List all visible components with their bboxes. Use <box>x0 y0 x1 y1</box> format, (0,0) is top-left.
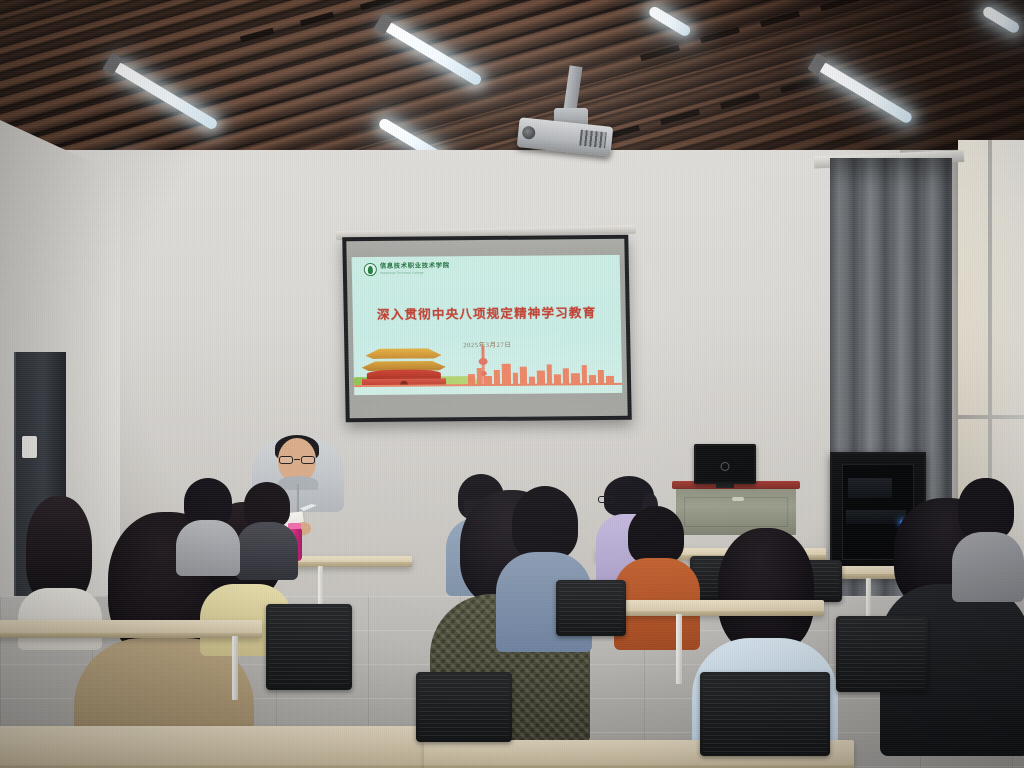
student-rust-jacket <box>614 506 700 646</box>
chair[interactable] <box>700 672 830 756</box>
student-torso <box>236 522 298 580</box>
desk-leg <box>676 614 682 684</box>
student-hair <box>512 486 578 560</box>
desk <box>0 620 262 638</box>
dell-logo-icon <box>721 462 730 471</box>
desk-leg <box>232 636 238 700</box>
slide-artwork <box>353 341 622 395</box>
student-hair <box>184 478 232 526</box>
chair[interactable] <box>556 580 626 636</box>
student-hair <box>718 528 814 652</box>
slide-title: 深入贯彻中央八项规定精神学习教育 <box>353 302 621 323</box>
desktop-monitor[interactable] <box>694 444 756 484</box>
student-dark-coat <box>236 482 298 578</box>
projector-vent <box>579 130 607 149</box>
student-torso <box>952 532 1024 602</box>
classroom-photo: 信息技术职业技术学院 Vocational Technical College … <box>0 0 1024 768</box>
projector-lens <box>522 126 536 140</box>
chair[interactable] <box>416 672 512 742</box>
student-gray-top <box>176 478 240 570</box>
eyeglasses-icon <box>279 456 315 464</box>
chair[interactable] <box>836 616 928 692</box>
presentation-slide: 信息技术职业技术学院 Vocational Technical College … <box>352 255 623 395</box>
podium-handle[interactable] <box>732 497 744 501</box>
slide-logo: 信息技术职业技术学院 Vocational Technical College <box>364 262 450 276</box>
eyeglasses-icon <box>598 496 614 503</box>
college-emblem-icon <box>364 263 377 276</box>
desk <box>0 726 460 768</box>
projection-screen: 信息技术职业技术学院 Vocational Technical College … <box>342 235 632 422</box>
student-torso <box>176 520 240 576</box>
student-far-right-gray <box>952 478 1024 598</box>
institution-name-en: Vocational Technical College <box>380 271 450 275</box>
projection-screen-surface: 信息技术职业技术学院 Vocational Technical College … <box>346 239 627 418</box>
student-hair <box>628 506 684 564</box>
student-hair <box>958 478 1014 540</box>
rack-equipment <box>848 478 892 498</box>
chair[interactable] <box>266 604 352 690</box>
tiananmen-gate-icon <box>361 345 446 386</box>
light-switch[interactable] <box>22 436 37 458</box>
desk <box>292 556 412 567</box>
